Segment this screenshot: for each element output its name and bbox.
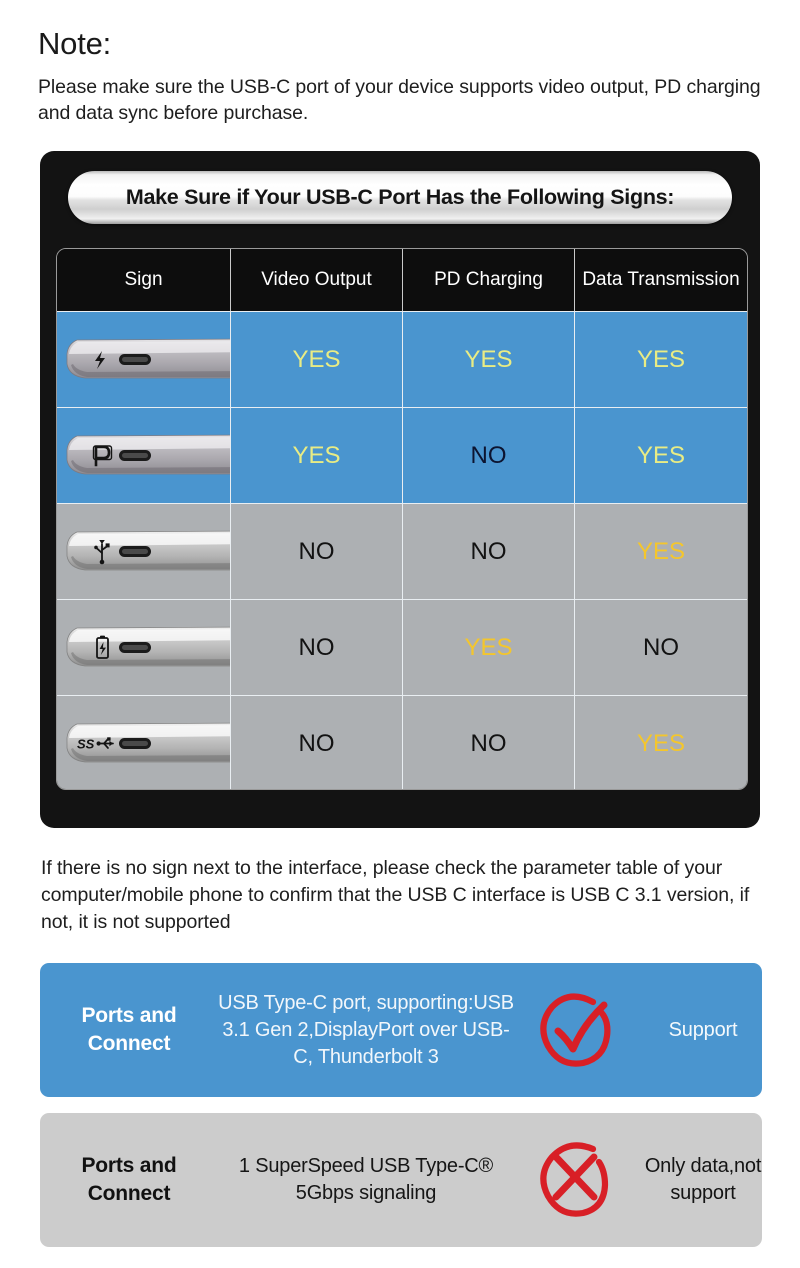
thunderbolt-port-icon: [57, 312, 230, 407]
circle-check-icon: [514, 985, 644, 1075]
card-description: 1 SuperSpeed USB Type-C® 5Gbps signaling: [218, 1153, 514, 1207]
table-row: YES NO YES: [57, 407, 747, 503]
pd-charging-value: NO: [403, 503, 575, 599]
column-header-data: Data Transmission: [575, 249, 747, 311]
laptop-edge-graphic: [63, 337, 230, 383]
support-card-gray: Ports and Connect 1 SuperSpeed USB Type-…: [40, 1113, 762, 1247]
pd-charging-value: NO: [403, 695, 575, 790]
video-output-value: NO: [231, 599, 403, 695]
data-transmission-value: YES: [575, 503, 747, 599]
table-row: SS NO NO YES: [57, 695, 747, 790]
column-header-sign: Sign: [57, 249, 231, 311]
circle-cross-glyph: [531, 1135, 627, 1225]
video-output-value: YES: [231, 311, 403, 407]
displayport-port-icon: [57, 408, 230, 503]
signs-panel: Make Sure if Your USB-C Port Has the Fol…: [40, 151, 760, 828]
table-row: YES YES YES: [57, 311, 747, 407]
page-root: Note: Please make sure the USB-C port of…: [0, 0, 800, 1268]
table-row: NO NO YES: [57, 503, 747, 599]
svg-text:SS: SS: [77, 736, 95, 751]
pd-charging-value: YES: [403, 599, 575, 695]
sign-cell: [57, 599, 231, 695]
support-card-blue: Ports and Connect USB Type-C port, suppo…: [40, 963, 762, 1097]
table-header-row: Sign Video Output PD Charging Data Trans…: [57, 249, 747, 311]
laptop-edge-graphic: [63, 625, 230, 671]
laptop-edge-graphic: [63, 433, 230, 479]
column-header-pd: PD Charging: [403, 249, 575, 311]
laptop-edge-graphic: [63, 529, 230, 575]
sign-cell: [57, 407, 231, 503]
usb-trident-port-icon: [57, 504, 230, 599]
video-output-value: YES: [231, 407, 403, 503]
video-output-value: NO: [231, 695, 403, 790]
data-transmission-value: NO: [575, 599, 747, 695]
note-body-text: Please make sure the USB-C port of your …: [38, 74, 783, 126]
table-row: NO YES NO: [57, 599, 747, 695]
page-title: Note:: [38, 26, 111, 62]
card-status-text: Only data,not support: [644, 1153, 762, 1207]
data-transmission-value: YES: [575, 311, 747, 407]
superspeed-usb-port-icon: SS: [57, 696, 230, 790]
sign-cell: SS: [57, 695, 231, 790]
signs-table: Sign Video Output PD Charging Data Trans…: [56, 248, 748, 790]
column-header-video: Video Output: [231, 249, 403, 311]
video-output-value: NO: [231, 503, 403, 599]
card-label: Ports and Connect: [40, 1152, 218, 1208]
sign-cell: [57, 311, 231, 407]
sign-cell: [57, 503, 231, 599]
data-transmission-value: YES: [575, 695, 747, 790]
footnote-paragraph: If there is no sign next to the interfac…: [41, 855, 771, 936]
card-description: USB Type-C port, supporting:USB 3.1 Gen …: [218, 990, 514, 1071]
pd-charging-value: NO: [403, 407, 575, 503]
circle-cross-icon: [514, 1135, 644, 1225]
battery-charge-port-icon: [57, 600, 230, 695]
banner-text: Make Sure if Your USB-C Port Has the Fol…: [126, 185, 674, 210]
circle-check-glyph: [531, 985, 627, 1075]
laptop-edge-graphic: SS: [63, 721, 230, 767]
pd-charging-value: YES: [403, 311, 575, 407]
data-transmission-value: YES: [575, 407, 747, 503]
card-label: Ports and Connect: [40, 1002, 218, 1058]
banner-pill: Make Sure if Your USB-C Port Has the Fol…: [68, 171, 732, 224]
card-status-text: Support: [644, 1017, 762, 1044]
